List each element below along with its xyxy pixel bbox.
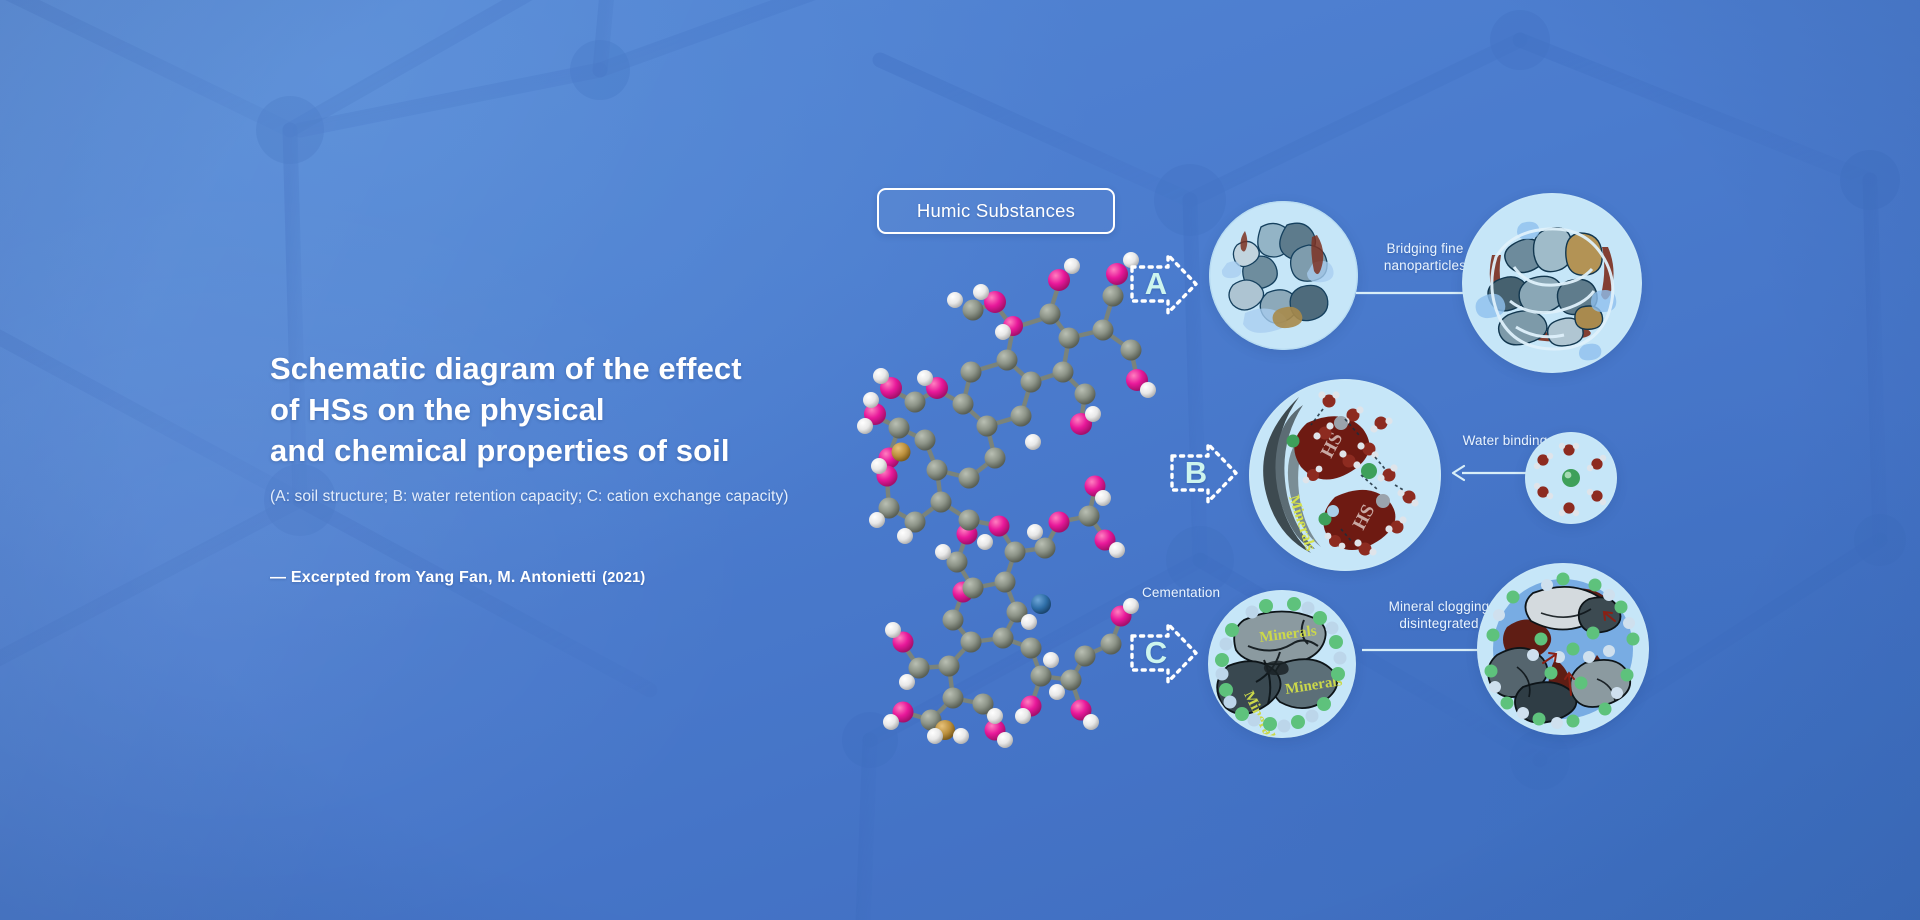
headline-line-3: and chemical properties of soil bbox=[270, 430, 930, 471]
hs-mineral-water-circle: HS HS Minerals bbox=[1249, 379, 1441, 571]
bridged-soil-aggregate-circle bbox=[1462, 193, 1642, 373]
row-b-letter: B bbox=[1168, 438, 1240, 508]
row-b-letter-wrap: B bbox=[1168, 438, 1240, 508]
page-title: Schematic diagram of the effect of HSs o… bbox=[270, 348, 930, 472]
humic-substances-label: Humic Substances bbox=[877, 188, 1115, 234]
attribution-text: — Excerpted from Yang Fan, M. Antonietti bbox=[270, 569, 596, 586]
attribution: — Excerpted from Yang Fan, M. Antonietti… bbox=[270, 569, 930, 587]
mineral-clogging-circle: Minerals Minerals Minerals bbox=[1208, 590, 1356, 738]
humic-substance-molecule bbox=[845, 230, 1165, 750]
text-block: Schematic diagram of the effect of HSs o… bbox=[270, 348, 930, 587]
headline-line-2: of HSs on the physical bbox=[270, 389, 930, 430]
attribution-year: (2021) bbox=[602, 570, 645, 586]
humic-substances-text: Humic Substances bbox=[917, 200, 1075, 222]
loose-soil-aggregate-circle bbox=[1209, 201, 1358, 350]
row-c-pre-label: Cementation bbox=[1142, 585, 1220, 600]
row-c-letter: C bbox=[1128, 618, 1200, 688]
subtitle: (A: soil structure; B: water retention c… bbox=[270, 486, 930, 508]
water-cluster-circle bbox=[1525, 432, 1617, 524]
row-a-letter: A bbox=[1128, 249, 1200, 319]
headline-line-1: Schematic diagram of the effect bbox=[270, 348, 930, 389]
row-a-letter-wrap: A bbox=[1128, 249, 1200, 319]
row-c-letter-wrap: C bbox=[1128, 618, 1200, 688]
poster-canvas: Schematic diagram of the effect of HSs o… bbox=[0, 0, 1920, 920]
nitrogen-atom bbox=[1031, 594, 1051, 614]
disintegrated-mineral-circle bbox=[1477, 563, 1649, 735]
